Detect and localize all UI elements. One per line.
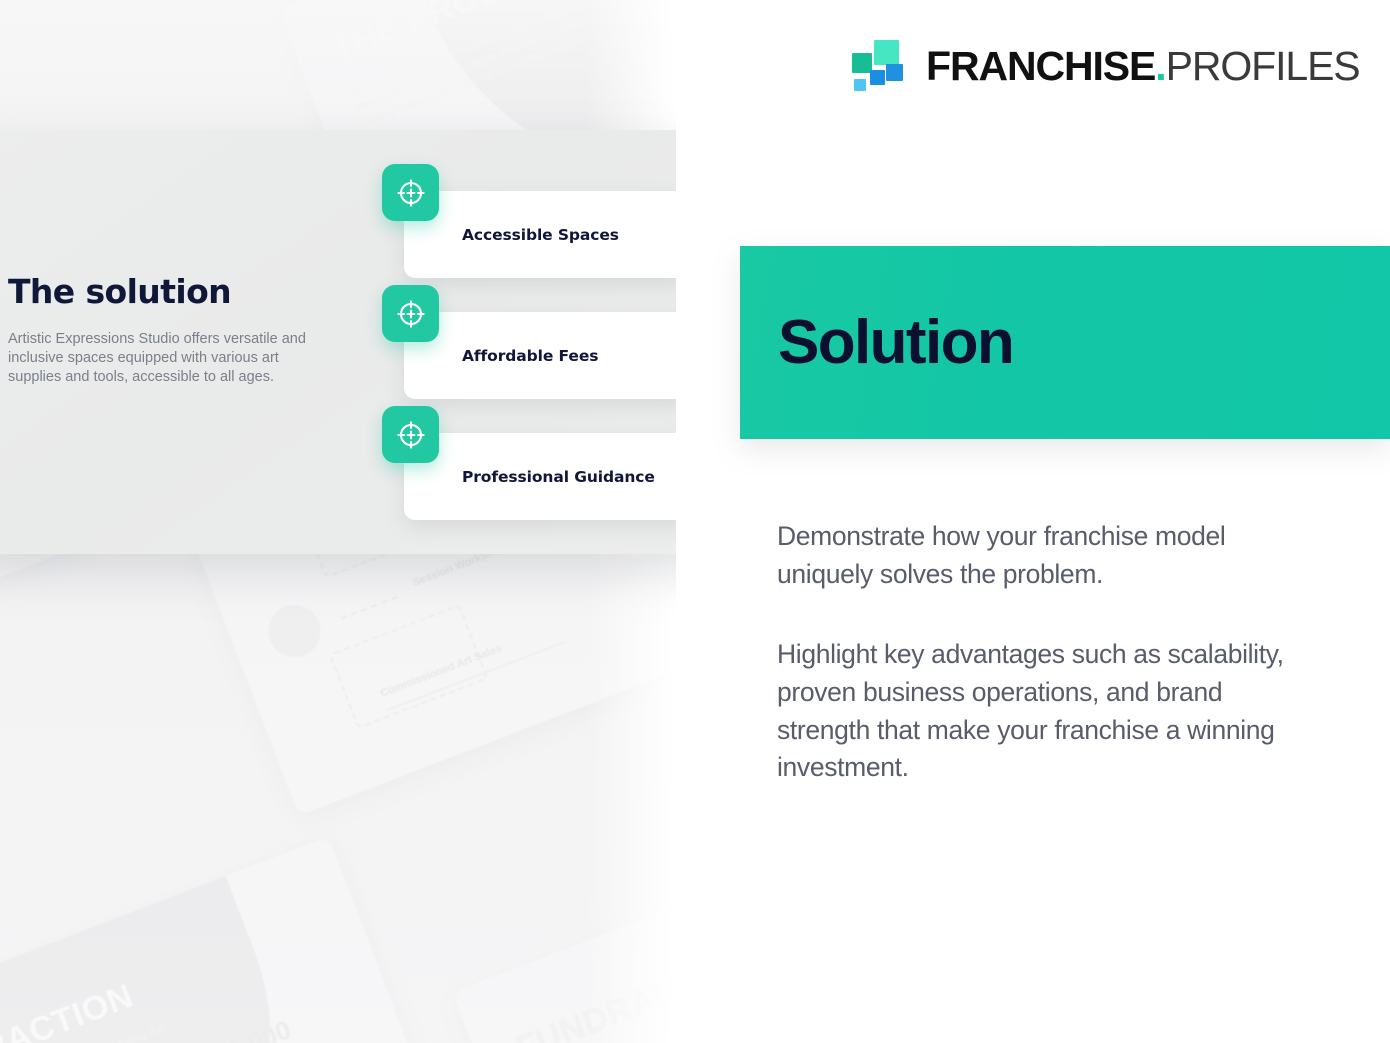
crosshair-target-icon: [382, 285, 439, 342]
deck-dashed-line: [341, 596, 398, 619]
deck-circle-icon: [261, 598, 328, 665]
feature-label: Professional Guidance: [404, 468, 655, 486]
feature-row[interactable]: Professional Guidance: [382, 406, 712, 527]
section-description: Demonstrate how your franchise model uni…: [777, 518, 1317, 787]
logo-word-light: PROFILES: [1166, 43, 1360, 89]
logo-word-dot: .: [1155, 43, 1165, 89]
feature-row[interactable]: Accessible Spaces: [382, 164, 712, 285]
crosshair-target-icon: [382, 164, 439, 221]
feature-label: Affordable Fees: [404, 347, 598, 365]
feature-label: Accessible Spaces: [404, 226, 619, 244]
slide-preview-description: Artistic Expressions Studio offers versa…: [8, 330, 328, 387]
deck-slide-title: FUNDRAISING: [511, 948, 676, 1043]
background-slide-traction: TRACTION Significant milestones demonstr…: [0, 837, 443, 1043]
description-paragraph-1: Demonstrate how your franchise model uni…: [777, 518, 1317, 594]
right-content-panel: FRANCHISE.PROFILES Solution Demonstrate …: [676, 0, 1390, 1043]
background-slide-fundraising: FUNDRAISING: [452, 828, 676, 1043]
slide-preview-feature-list: Accessible Spaces Affordab: [382, 164, 712, 527]
feature-card[interactable]: Affordable Fees: [404, 312, 689, 399]
crosshair-target-icon: [382, 406, 439, 463]
feature-card[interactable]: Accessible Spaces: [404, 191, 689, 278]
slide-preview-text-block: The solution Artistic Expressions Studio…: [8, 275, 338, 387]
slide-preview-title: The solution: [8, 275, 338, 308]
section-title: Solution: [740, 312, 1013, 374]
slide-preview-card[interactable]: The solution Artistic Expressions Studio…: [0, 130, 740, 554]
logo-squares-icon: [848, 38, 904, 94]
logo-word-bold: FRANCHISE: [926, 43, 1155, 89]
franchise-profiles-logo[interactable]: FRANCHISE.PROFILES: [848, 38, 1360, 94]
section-banner: Solution: [740, 246, 1390, 439]
feature-row[interactable]: Affordable Fees: [382, 285, 712, 406]
description-paragraph-2: Highlight key advantages such as scalabi…: [777, 636, 1317, 788]
feature-card[interactable]: Professional Guidance: [404, 433, 689, 520]
slide-template-preview-page: spaces in urban and ...ng a substantial …: [0, 0, 1390, 1043]
logo-wordmark: FRANCHISE.PROFILES: [926, 46, 1360, 87]
